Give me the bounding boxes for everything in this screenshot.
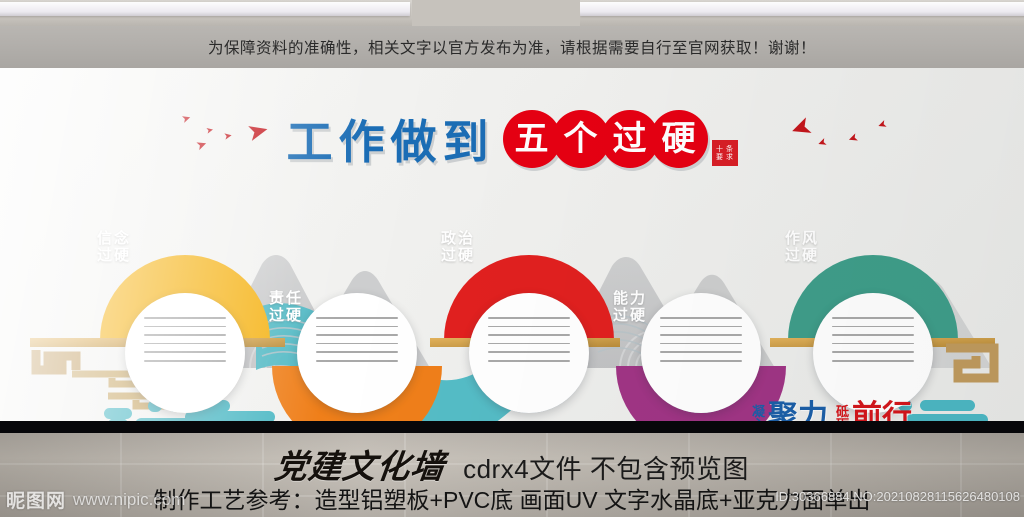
slogan-small-1-char-1: 凝	[752, 407, 765, 419]
headline-pill-2: 个	[552, 110, 610, 168]
ceiling-column	[412, 0, 580, 26]
disc-photo-1	[125, 368, 245, 426]
segment-arcs	[100, 255, 958, 426]
seal-char-2: 条	[725, 145, 735, 153]
segment-arc-zuofeng	[788, 255, 958, 340]
slogan-small-2-char-1: 砥	[836, 407, 849, 419]
meander-right	[946, 348, 994, 378]
headline-pill-1: 五	[503, 110, 561, 168]
bird-icon-l1: ➤	[181, 113, 193, 126]
segment-arc-nengli	[616, 366, 786, 426]
watermark-cn: 昵图网	[6, 486, 66, 513]
segment-label-zuofeng-line2: 过硬	[772, 247, 832, 264]
disc-lines-2	[316, 317, 398, 369]
content-disc-5	[813, 293, 933, 413]
headline-pill-char-4: 硬	[662, 122, 696, 156]
segment-label-zuofeng-line1: 作风	[772, 230, 832, 247]
screenshot-root: 为保障资料的准确性，相关文字以官方发布为准，请根据需要自行至官网获取！谢谢！	[0, 0, 1024, 517]
disc-lines-3	[488, 317, 570, 369]
seal-char-1: 十	[715, 145, 725, 153]
content-disc-3	[469, 293, 589, 413]
headline: 工作做到 五 个 过 硬 十 条 要 求	[0, 104, 1024, 174]
watermark: 昵图网 www.nipic.com	[6, 486, 185, 513]
gold-rails	[30, 338, 995, 347]
black-divider	[0, 421, 1024, 433]
notice-band: 为保障资料的准确性，相关文字以官方发布为准，请根据需要自行至官网获取！谢谢！	[0, 26, 1024, 68]
watermark-url: www.nipic.com	[73, 490, 185, 510]
headline-blue-text: 工作做到	[287, 106, 495, 172]
segment-label-zuofeng: 作风 过硬	[772, 230, 832, 264]
bird-icon-l5: ➤	[244, 118, 271, 147]
bird-icon-r4: ➤	[876, 119, 888, 132]
segment-arc-zhengzhi	[444, 255, 614, 340]
meander-left	[36, 350, 162, 406]
content-disc-2	[297, 293, 417, 413]
headline-pill-char-1: 五	[515, 122, 549, 156]
segment-arc-zeren	[272, 366, 442, 426]
bird-icon-r3: ➤	[846, 131, 860, 146]
segment-label-nengli: 能力 过硬	[600, 290, 660, 324]
bird-icon-l3: ➤	[194, 137, 209, 153]
ceiling-lamp-right	[580, 2, 1024, 16]
headline-pill-3: 过	[601, 110, 659, 168]
segment-label-zeren-line2: 过硬	[256, 307, 316, 324]
seal-char-3: 要	[715, 153, 725, 161]
disc-photo-3	[469, 364, 589, 426]
segment-label-nengli-line1: 能力	[600, 290, 660, 307]
segment-arc-xinnian	[100, 255, 270, 340]
bird-icon-r1: ➤	[786, 111, 815, 143]
disc-photo-2	[297, 366, 417, 426]
disc-lines-1	[144, 317, 226, 369]
seal-stamp-icon: 十 条 要 求	[712, 140, 738, 166]
headline-pill-char-3: 过	[613, 122, 647, 156]
ink-mountains	[210, 255, 992, 368]
content-disc-1	[125, 293, 245, 413]
bird-icon-r2: ➤	[816, 137, 828, 150]
seal-char-4: 求	[725, 153, 735, 161]
segment-label-zeren: 责任 过硬	[256, 290, 316, 324]
teal-wave	[256, 303, 700, 426]
wall-panel: 工作做到 五 个 过 硬 十 条 要 求 ➤ ➤ ➤ ➤	[0, 68, 1024, 426]
ceiling-photo	[0, 0, 1024, 26]
artwork: 工作做到 五 个 过 硬 十 条 要 求 ➤ ➤ ➤ ➤	[0, 68, 1024, 426]
artwork-svg	[0, 68, 1024, 426]
segment-label-xinnian-line1: 信念	[84, 230, 144, 247]
segment-label-xinnian: 信念 过硬	[84, 230, 144, 264]
notice-text: 为保障资料的准确性，相关文字以官方发布为准，请根据需要自行至官网获取！谢谢！	[208, 36, 816, 58]
segment-label-zeren-line1: 责任	[256, 290, 316, 307]
headline-pill-row: 五 个 过 硬 十 条 要 求	[503, 110, 738, 168]
disc-lines-5	[832, 317, 914, 369]
headline-pill-char-2: 个	[564, 122, 598, 156]
ceiling-lamp-left	[0, 2, 410, 16]
headline-pill-4: 硬	[650, 110, 708, 168]
image-id-tag: ID:30366884 NO:20210828115626480108	[775, 489, 1020, 504]
bird-icon-l4: ➤	[223, 131, 233, 142]
bird-icon-l2: ➤	[205, 125, 214, 135]
caption-process: 制作工艺参考：造型铝塑板+PVC底 画面UV 文字水晶底+亚克力面单出	[154, 487, 871, 513]
segment-label-zhengzhi-line1: 政治	[428, 230, 488, 247]
disc-lines-4	[660, 317, 742, 369]
content-disc-4	[641, 293, 761, 413]
segment-label-zhengzhi: 政治 过硬	[428, 230, 488, 264]
segment-label-zhengzhi-line2: 过硬	[428, 247, 488, 264]
segment-label-nengli-line2: 过硬	[600, 307, 660, 324]
segment-label-xinnian-line2: 过硬	[84, 247, 144, 264]
disc-photo-4	[641, 366, 761, 426]
disc-photo-5	[813, 364, 933, 426]
